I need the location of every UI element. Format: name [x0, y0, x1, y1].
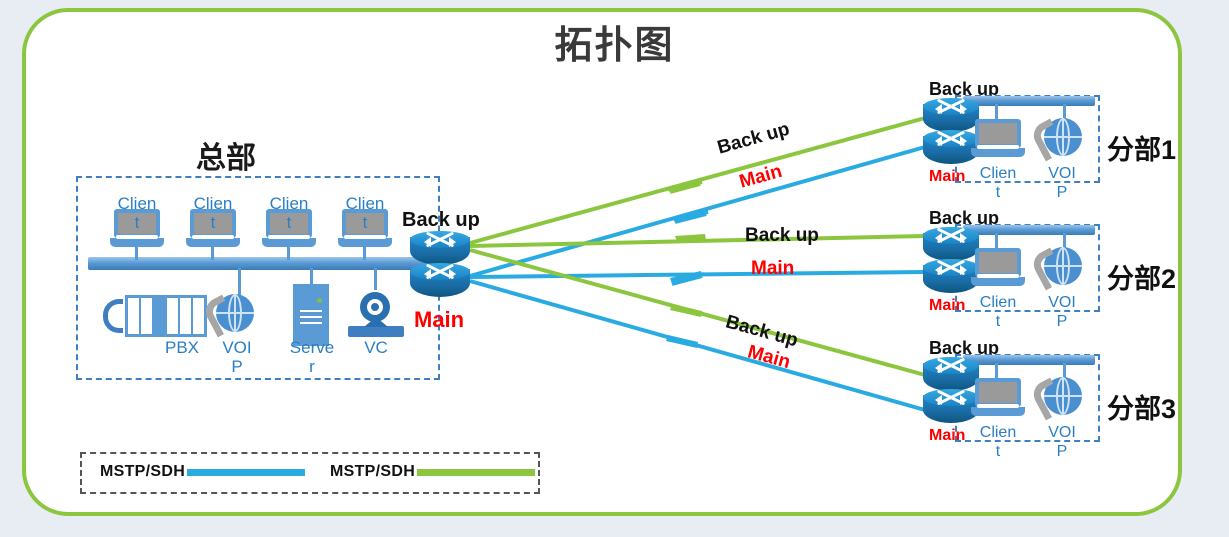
router-x-icon	[425, 265, 455, 278]
hq-pbx-icon[interactable]	[103, 295, 207, 337]
legend-label-2: MSTP/SDH	[330, 463, 415, 481]
pbx-slot	[128, 298, 141, 334]
branch2-client-laptop[interactable]	[971, 248, 1025, 288]
hq-router-main[interactable]	[410, 263, 470, 303]
branch3-bus	[963, 355, 1095, 365]
server-vents	[300, 310, 322, 328]
laptop-screen	[975, 248, 1021, 277]
camera-stand	[348, 326, 404, 337]
laptop-base	[262, 238, 316, 247]
laptop-base	[971, 407, 1025, 416]
link-label-backup-branch2: Back up	[745, 225, 819, 247]
legend-swatch-backup	[417, 469, 535, 476]
router-x-icon	[936, 132, 966, 145]
branch1-client-stem	[995, 104, 998, 120]
pbx-rack	[125, 295, 207, 337]
link-main-branch3	[470, 281, 925, 410]
legend-item-1: MSTP/SDH	[100, 463, 305, 481]
hq-client-label-4: Clien t	[336, 194, 394, 232]
pbx-slot	[154, 298, 167, 334]
branch1-client-laptop[interactable]	[971, 119, 1025, 159]
laptop-base	[338, 238, 392, 247]
router-top	[410, 231, 470, 248]
phone-handset-icon	[103, 299, 123, 333]
branch2-client-stem	[995, 233, 998, 249]
branch3-router-main-label: Main	[929, 427, 965, 445]
branch3-voip-icon[interactable]	[1036, 377, 1082, 423]
branch2-router-main-label: Main	[929, 297, 965, 315]
pbx-slot	[193, 298, 204, 334]
hq-server-label: Serve r	[281, 338, 343, 376]
branch2-voip-icon[interactable]	[1036, 247, 1082, 293]
branch1-title: 分部1	[1107, 128, 1176, 167]
router-x-icon	[936, 391, 966, 404]
router-top	[923, 357, 979, 374]
hq-client-label-3: Clien t	[260, 194, 318, 232]
hq-bus	[88, 257, 428, 270]
hq-title: 总部	[196, 133, 256, 177]
branch1-bus	[963, 96, 1095, 106]
branch3-client-stem	[995, 363, 998, 379]
router-top	[923, 98, 979, 115]
branch1-client-label: Clien t	[969, 164, 1027, 202]
legend-swatch-main	[187, 469, 305, 476]
link-label-main-branch2: Main	[751, 258, 794, 280]
hq-server-stem	[310, 268, 313, 285]
laptop-base	[110, 238, 164, 247]
hq-vc-icon[interactable]	[348, 288, 404, 342]
branch3-client-label: Clien t	[969, 423, 1027, 461]
legend-label-1: MSTP/SDH	[100, 463, 185, 481]
router-top	[410, 263, 470, 280]
pbx-slot	[141, 298, 154, 334]
router-x-icon	[936, 229, 966, 242]
laptop-base	[186, 238, 240, 247]
branch2-bus	[963, 225, 1095, 235]
branch2-client-label: Clien t	[969, 293, 1027, 331]
branch2-title: 分部2	[1107, 257, 1176, 296]
branch2-voip-label: VOI P	[1036, 293, 1088, 331]
router-x-icon	[936, 261, 966, 274]
hq-router-backup-label: Back up	[402, 209, 480, 232]
router-x-icon	[936, 100, 966, 113]
arrow-main-branch3	[666, 335, 698, 348]
branch3-voip-label: VOI P	[1036, 423, 1088, 461]
pbx-slot	[167, 298, 180, 334]
branch3-client-laptop[interactable]	[971, 378, 1025, 418]
laptop-screen	[975, 119, 1021, 148]
hq-client-label-1: Clien t	[108, 194, 166, 232]
hq-vc-stem	[374, 268, 377, 290]
hq-voip-icon[interactable]	[208, 294, 254, 340]
branch3-title: 分部3	[1107, 387, 1176, 426]
hq-vc-label: VC	[352, 338, 400, 357]
hq-server-icon[interactable]	[293, 284, 329, 346]
branch1-router-main-label: Main	[929, 168, 965, 186]
router-x-icon	[425, 233, 455, 246]
router-x-icon	[936, 359, 966, 372]
hq-client-label-2: Clien t	[184, 194, 242, 232]
legend-item-2: MSTP/SDH	[330, 463, 535, 481]
laptop-base	[971, 148, 1025, 157]
server-led	[317, 298, 322, 303]
hq-router-main-label: Main	[414, 307, 464, 333]
branch1-voip-label: VOI P	[1036, 164, 1088, 202]
laptop-base	[971, 277, 1025, 286]
pbx-slot	[180, 298, 193, 334]
branch1-voip-icon[interactable]	[1036, 118, 1082, 164]
hq-pbx-label: PBX	[152, 338, 212, 357]
laptop-screen	[975, 378, 1021, 407]
hq-voip-label: VOI P	[209, 338, 265, 376]
topology-diagram: 拓扑图 Back up Main Back up Main Back up Ma…	[0, 0, 1229, 537]
arrow-backup-branch3	[670, 304, 702, 317]
arrow-backup-branch2	[675, 234, 706, 241]
router-top	[923, 227, 979, 244]
